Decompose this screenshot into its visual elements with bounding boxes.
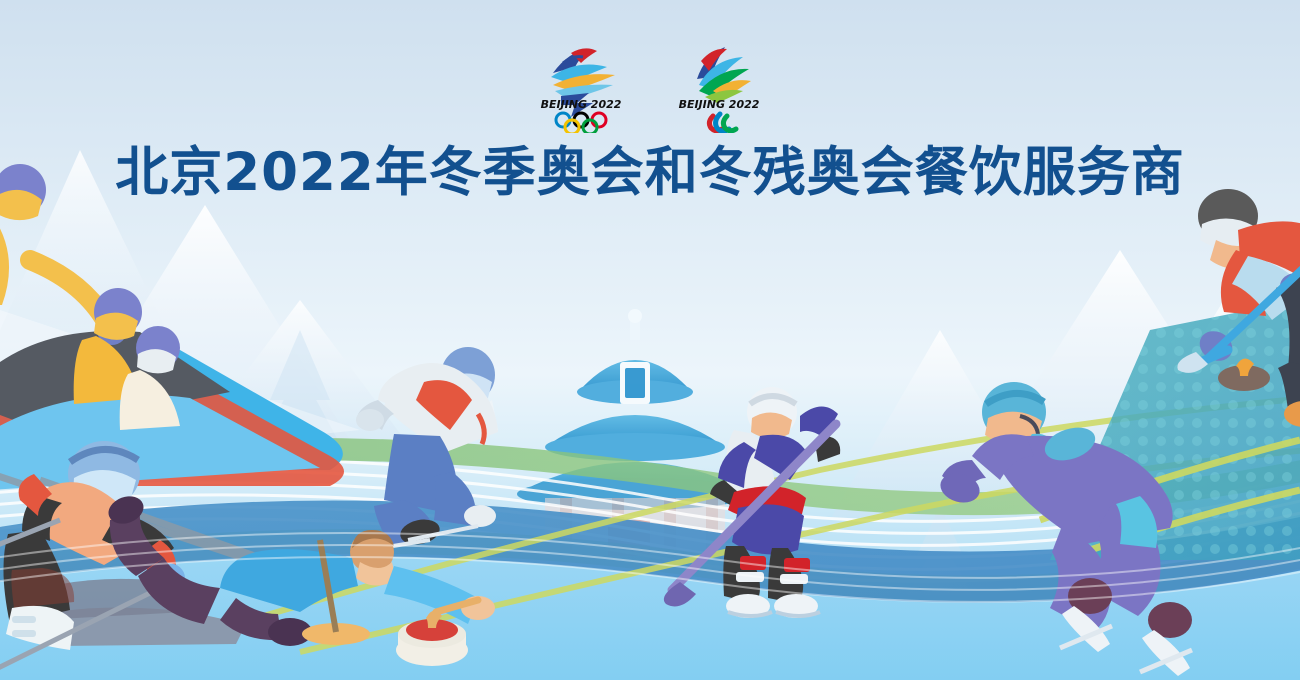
svg-text:BEIJING 2022: BEIJING 2022: [679, 98, 760, 111]
olympic-emblem: BEIJING 2022: [531, 33, 631, 133]
paralympic-emblem: BEIJING 2022: [669, 33, 769, 133]
emblem-row: BEIJING 2022 BEIJING 2022: [0, 33, 1300, 133]
page-title: 北京2022年冬季奥会和冬残奥会餐饮服务商: [0, 143, 1300, 204]
olympics-catering-banner: BEIJING 2022 BEIJING 2022: [0, 0, 1300, 680]
beijing-2022-wordmark: BEIJING 2022: [679, 98, 760, 111]
svg-text:BEIJING 2022: BEIJING 2022: [541, 98, 622, 111]
flying-glyph: [697, 47, 751, 103]
olympic-rings-icon: [556, 113, 606, 133]
beijing-2022-wordmark: BEIJING 2022: [541, 98, 622, 111]
agitos-icon: [709, 114, 736, 131]
